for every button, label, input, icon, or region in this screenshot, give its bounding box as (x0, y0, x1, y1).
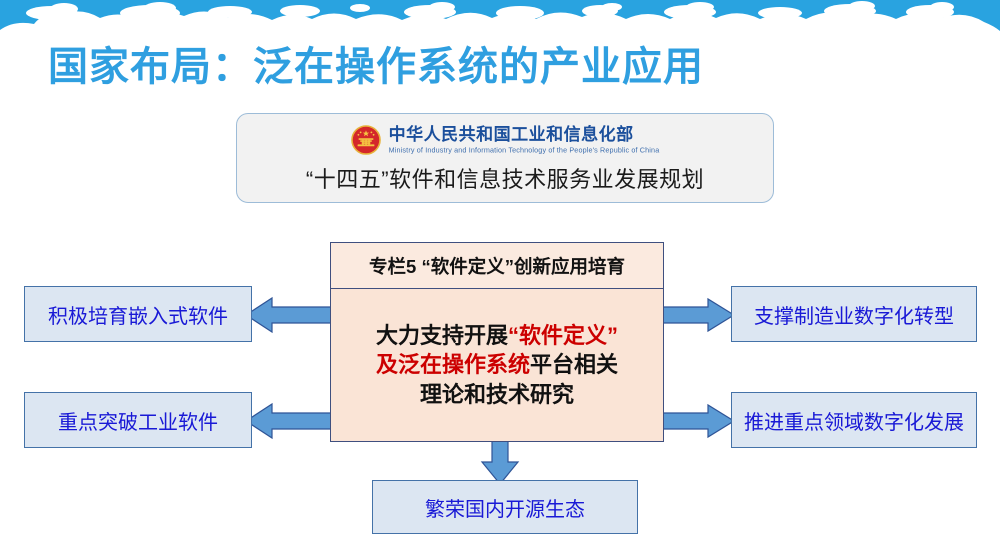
center-body-line2-plain: 平台相关 (530, 352, 618, 377)
center-body-line2-highlight: 及泛在操作系统 (376, 352, 530, 377)
ministry-names: 中华人民共和国工业和信息化部 Ministry of Industry and … (389, 126, 660, 153)
arrow-left-icon (246, 296, 332, 334)
center-body-line1-plain: 大力支持开展 (376, 323, 508, 348)
center-box-header: 专栏5 “软件定义”创新应用培育 (331, 243, 663, 289)
ministry-name-en: Ministry of Industry and Information Tec… (389, 146, 660, 154)
center-box-body: 大力支持开展“软件定义” 及泛在操作系统平台相关 理论和技术研究 (331, 289, 663, 441)
center-body-line-3: 理论和技术研究 (420, 380, 574, 409)
center-body-line-2: 及泛在操作系统平台相关 (376, 350, 618, 379)
center-body-line1-highlight: “软件定义” (508, 323, 618, 348)
page-title: 国家布局：泛在操作系统的产业应用 (48, 34, 704, 92)
node-box-embedded-software[interactable]: 积极培育嵌入式软件 (24, 286, 252, 342)
arrow-right-icon (660, 404, 734, 438)
node-box-open-source-ecosystem[interactable]: 繁荣国内开源生态 (372, 480, 638, 534)
node-box-key-domain-digitalization[interactable]: 推进重点领域数字化发展 (731, 392, 977, 448)
node-box-industrial-software[interactable]: 重点突破工业软件 (24, 392, 252, 448)
arrow-down-icon (478, 438, 522, 484)
ministry-plan-card: 中华人民共和国工业和信息化部 Ministry of Industry and … (236, 113, 774, 203)
china-national-emblem-icon (351, 125, 381, 155)
ministry-name-cn: 中华人民共和国工业和信息化部 (389, 126, 634, 144)
ministry-header: 中华人民共和国工业和信息化部 Ministry of Industry and … (351, 125, 660, 155)
center-body-line-1: 大力支持开展“软件定义” (376, 321, 618, 350)
arrow-left-icon (246, 402, 332, 440)
node-box-manufacturing-digital-transformation[interactable]: 支撑制造业数字化转型 (731, 286, 977, 342)
arrow-right-icon (660, 298, 734, 332)
center-policy-box: 专栏5 “软件定义”创新应用培育 大力支持开展“软件定义” 及泛在操作系统平台相… (330, 242, 664, 442)
plan-title: “十四五”软件和信息技术服务业发展规划 (306, 162, 704, 194)
